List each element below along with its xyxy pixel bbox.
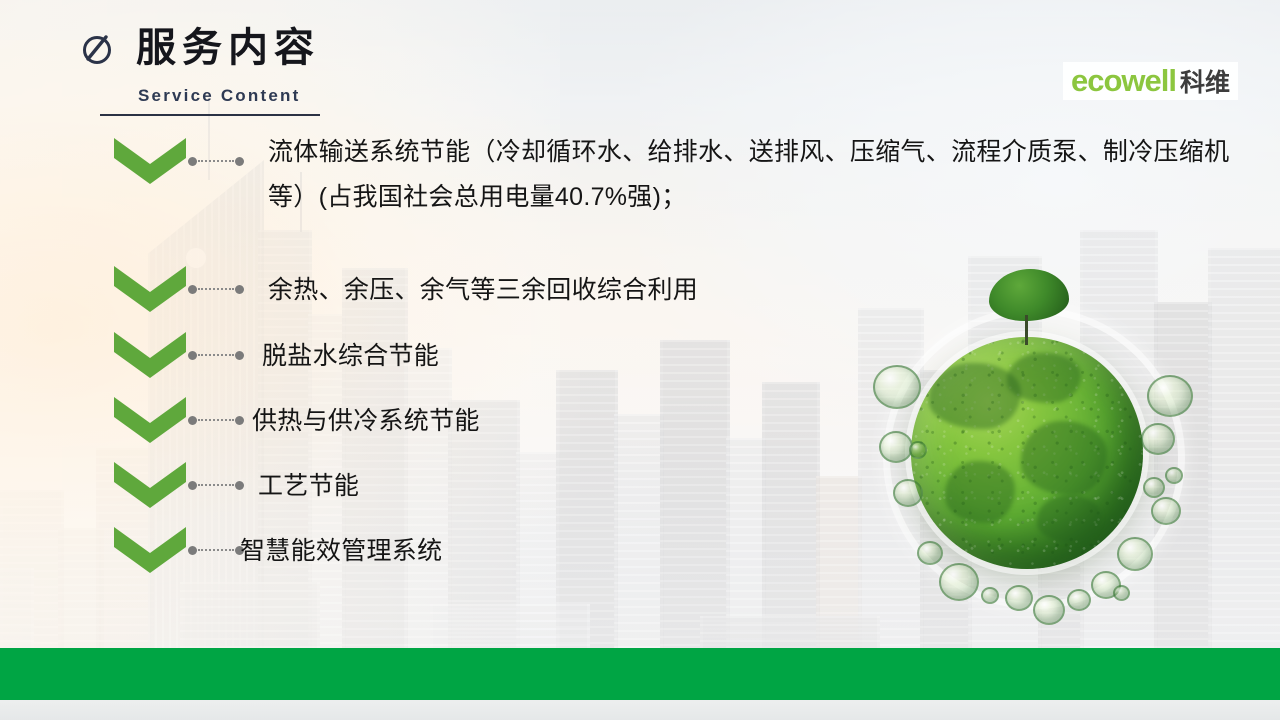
chevron-down-icon — [114, 266, 186, 312]
connector-line — [188, 414, 244, 426]
water-droplet-bubble — [981, 587, 999, 604]
connector-dot-right — [235, 481, 244, 490]
presentation-slide: 服务内容 Service Content ecowell 科维 流体输送系统节能… — [0, 0, 1280, 720]
connector-line — [188, 155, 244, 167]
connector-dotted-line — [198, 288, 234, 290]
connector-dot-left — [188, 285, 197, 294]
connector-dot-right — [235, 416, 244, 425]
chevron-down-icon — [114, 462, 186, 508]
connector-line — [188, 349, 244, 361]
connector-dot-right — [235, 285, 244, 294]
water-droplet-bubble — [1067, 589, 1091, 611]
footer-green-bar — [0, 648, 1280, 700]
water-droplet-bubble — [1117, 537, 1153, 571]
water-droplet-bubble — [1147, 375, 1193, 417]
connector-dot-right — [235, 157, 244, 166]
water-droplet-bubble — [873, 365, 921, 409]
chevron-down-icon — [114, 332, 186, 378]
title-underline — [100, 114, 320, 116]
connector-dot-left — [188, 351, 197, 360]
connector-line — [188, 283, 244, 295]
water-droplet-bubble — [917, 541, 943, 565]
connector-dot-left — [188, 157, 197, 166]
water-droplet-bubble — [1113, 585, 1130, 601]
chevron-down-icon — [114, 527, 186, 573]
page-subtitle: Service Content — [138, 86, 300, 106]
water-droplet-bubble — [939, 563, 979, 601]
water-droplet-bubble — [909, 441, 927, 459]
footer-bottom-strip — [0, 700, 1280, 720]
water-droplet-bubble — [893, 479, 923, 507]
brand-logo-latin: ecowell — [1071, 65, 1176, 96]
water-droplet-bubble — [1143, 477, 1165, 498]
globe-icon — [911, 337, 1143, 569]
connector-dot-right — [235, 351, 244, 360]
slide-header: 服务内容 Service Content ecowell 科维 — [0, 0, 1280, 130]
tree-icon — [983, 269, 1075, 347]
slashed-circle-icon — [78, 28, 118, 68]
water-droplet-bubble — [1033, 595, 1065, 625]
connector-dot-left — [188, 416, 197, 425]
water-droplet-bubble — [1165, 467, 1183, 484]
connector-line — [188, 544, 244, 556]
green-earth-graphic — [855, 265, 1225, 635]
connector-dotted-line — [198, 484, 234, 486]
brand-logo: ecowell 科维 — [1063, 62, 1238, 100]
connector-dotted-line — [198, 549, 234, 551]
connector-dot-left — [188, 546, 197, 555]
list-item-label: 供热与供冷系统节能 — [252, 399, 952, 444]
connector-dot-left — [188, 481, 197, 490]
connector-dotted-line — [198, 160, 234, 162]
chevron-down-icon — [114, 138, 186, 184]
slide-title-row: 服务内容 — [78, 28, 320, 68]
water-droplet-bubble — [1151, 497, 1181, 525]
connector-dotted-line — [198, 354, 234, 356]
water-droplet-bubble — [1141, 423, 1175, 455]
water-droplet-bubble — [1005, 585, 1033, 611]
connector-dotted-line — [198, 419, 234, 421]
page-title: 服务内容 — [136, 28, 320, 68]
list-item-label: 工艺节能 — [258, 464, 958, 509]
water-droplet-bubble — [879, 431, 913, 463]
list-item-label: 智慧能效管理系统 — [240, 529, 940, 574]
brand-logo-cn: 科维 — [1180, 71, 1230, 96]
chevron-down-icon — [114, 397, 186, 443]
list-item-label: 流体输送系统节能（冷却循环水、给排水、送排风、压缩气、流程介质泵、制冷压缩机等）… — [268, 130, 1250, 219]
connector-line — [188, 479, 244, 491]
